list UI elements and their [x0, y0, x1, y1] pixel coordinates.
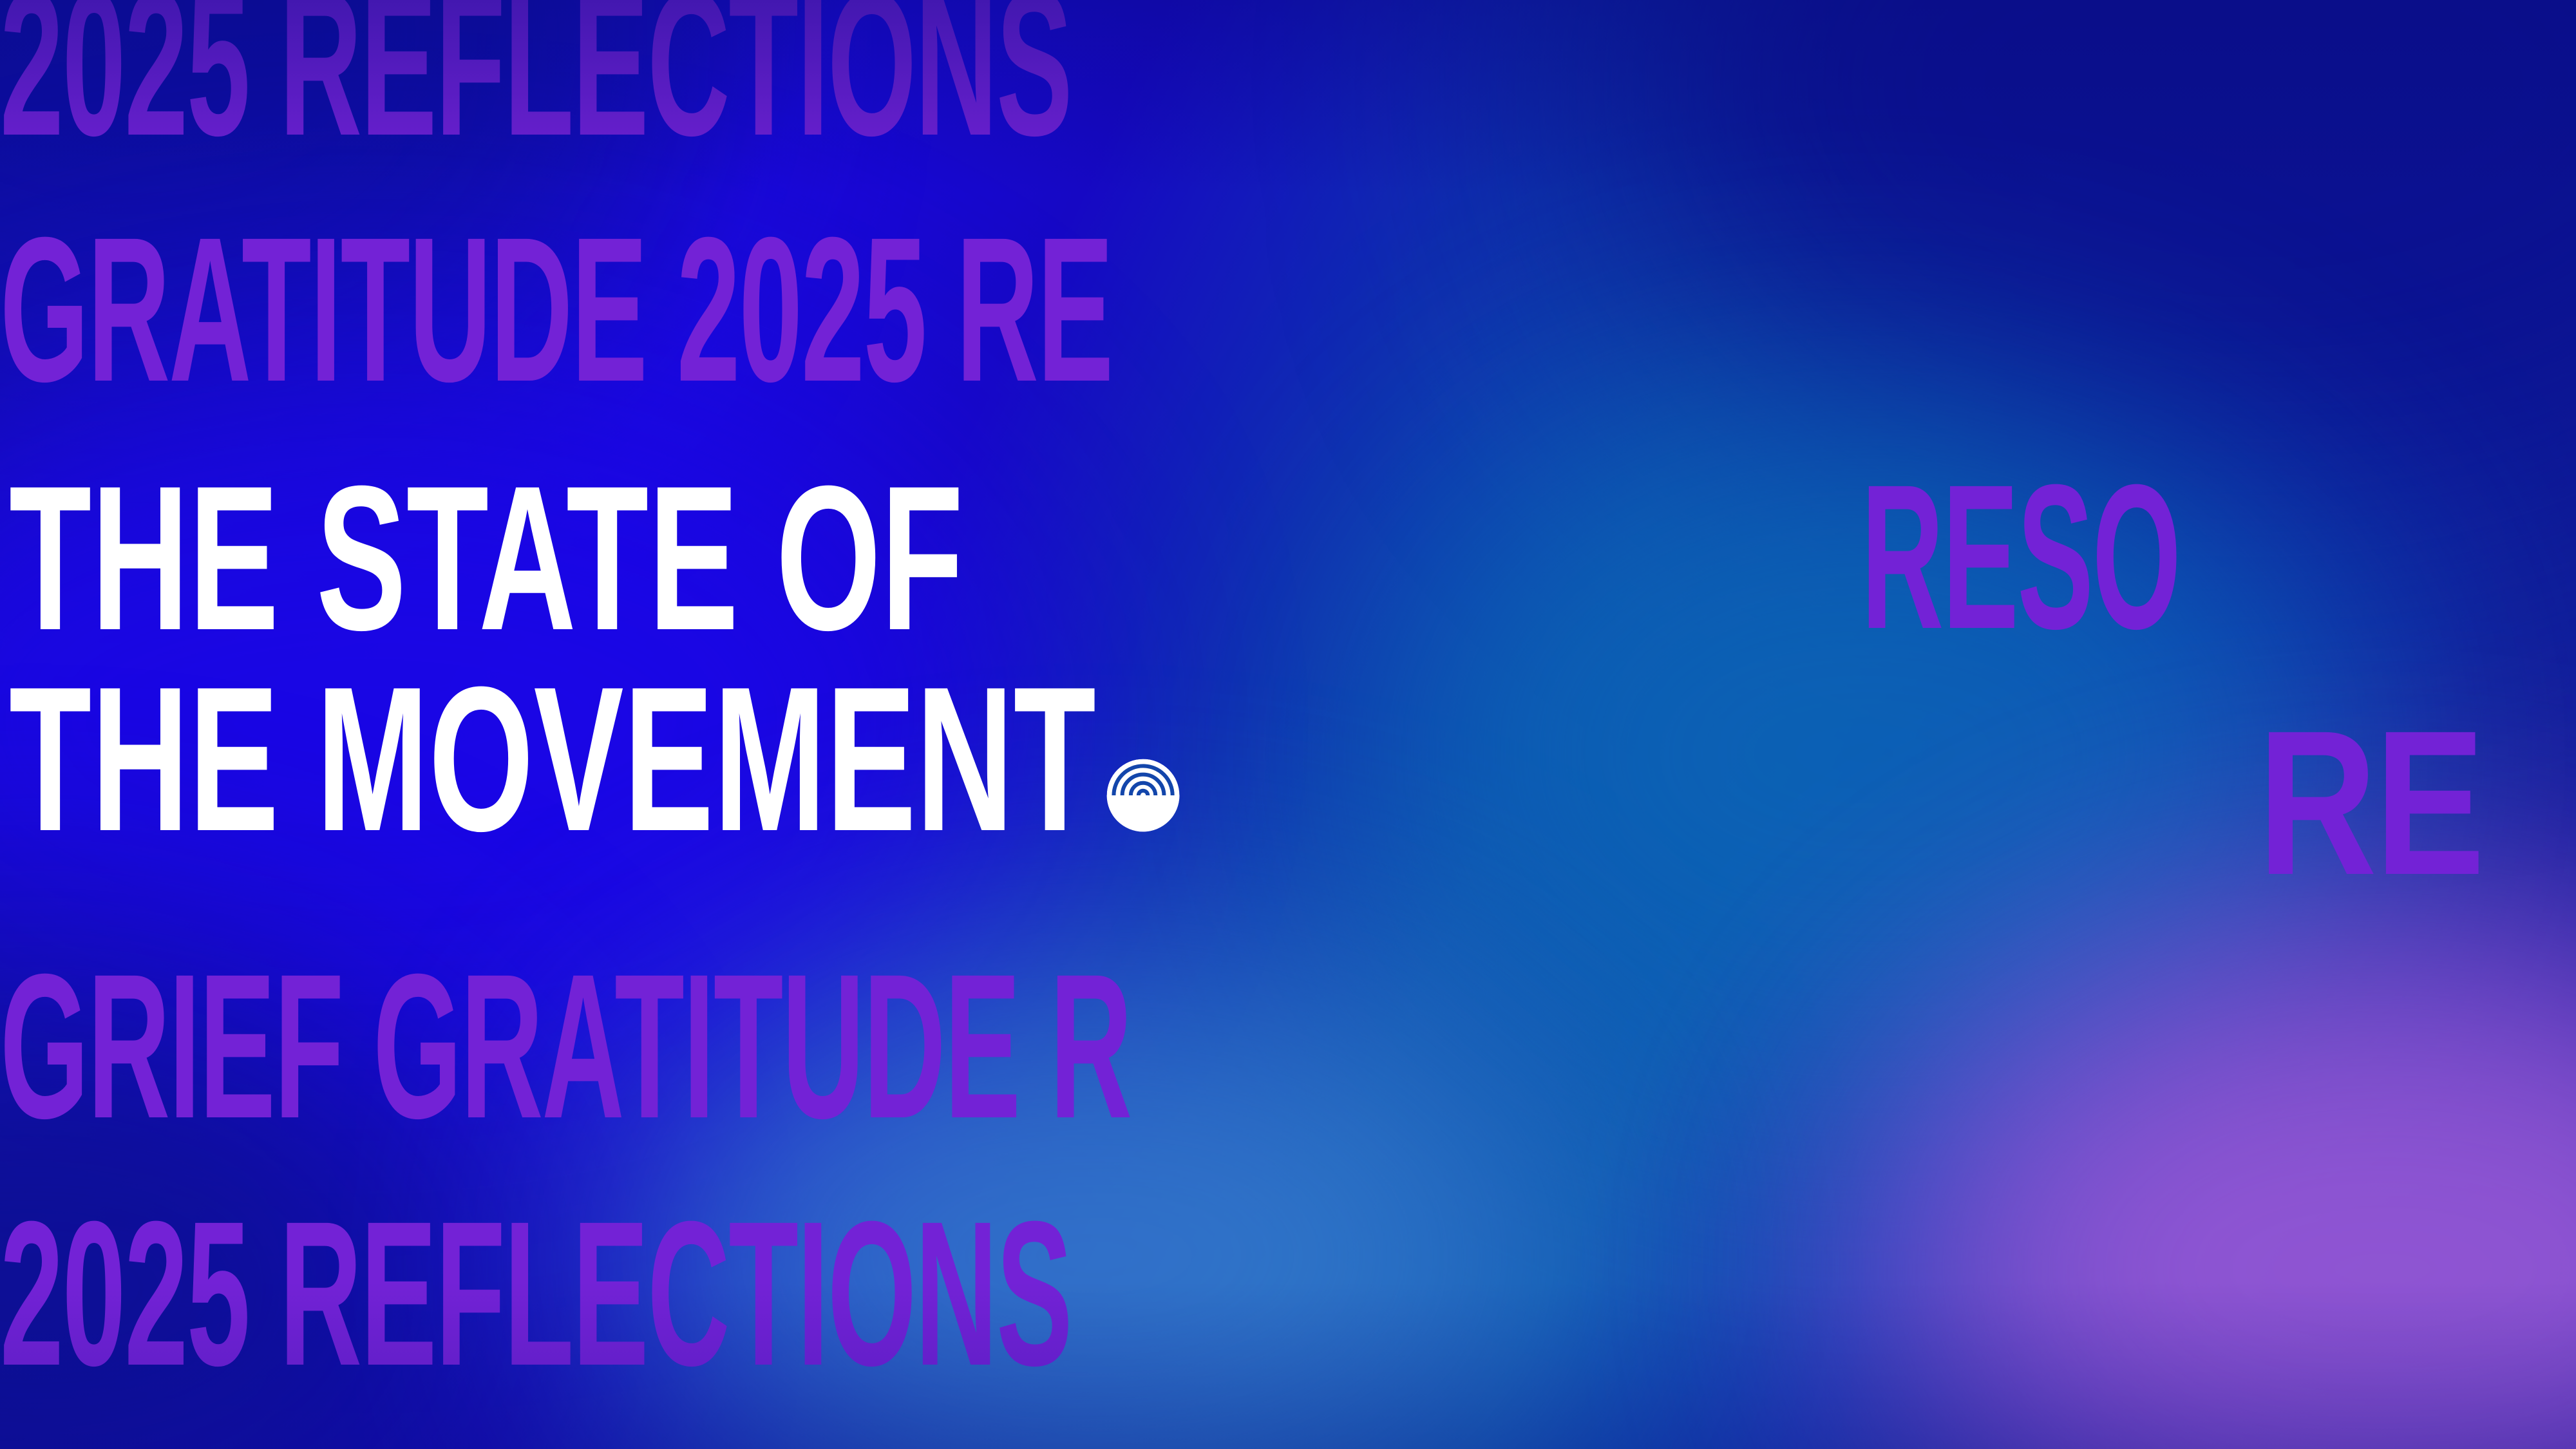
background-word-row-4: RE	[2258, 723, 2576, 884]
poster-canvas: 2025 REFLECTIONS GRATITUDE 2025 RE RESO …	[0, 0, 2576, 1449]
background-word-row-3: RESO	[1861, 477, 2576, 638]
headline-line-1: THE STATE OF	[9, 460, 1155, 661]
background-word-row-2: GRATITUDE 2025 RE	[0, 229, 1573, 390]
rainbow-circle-logo	[1104, 757, 1182, 834]
headline-line-2-wrapper: THE MOVEMENT	[9, 661, 1155, 862]
background-word-row-1: 2025 REFLECTIONS	[0, 0, 1573, 144]
headline-line-2: THE MOVEMENT	[9, 643, 1096, 874]
page-title: THE STATE OF THE MOVEMENT	[9, 460, 1759, 862]
background-word-row-5: GRIEF GRATITUDE R	[0, 966, 1573, 1127]
background-word-row-6: 2025 REFLECTIONS	[0, 1213, 1573, 1374]
